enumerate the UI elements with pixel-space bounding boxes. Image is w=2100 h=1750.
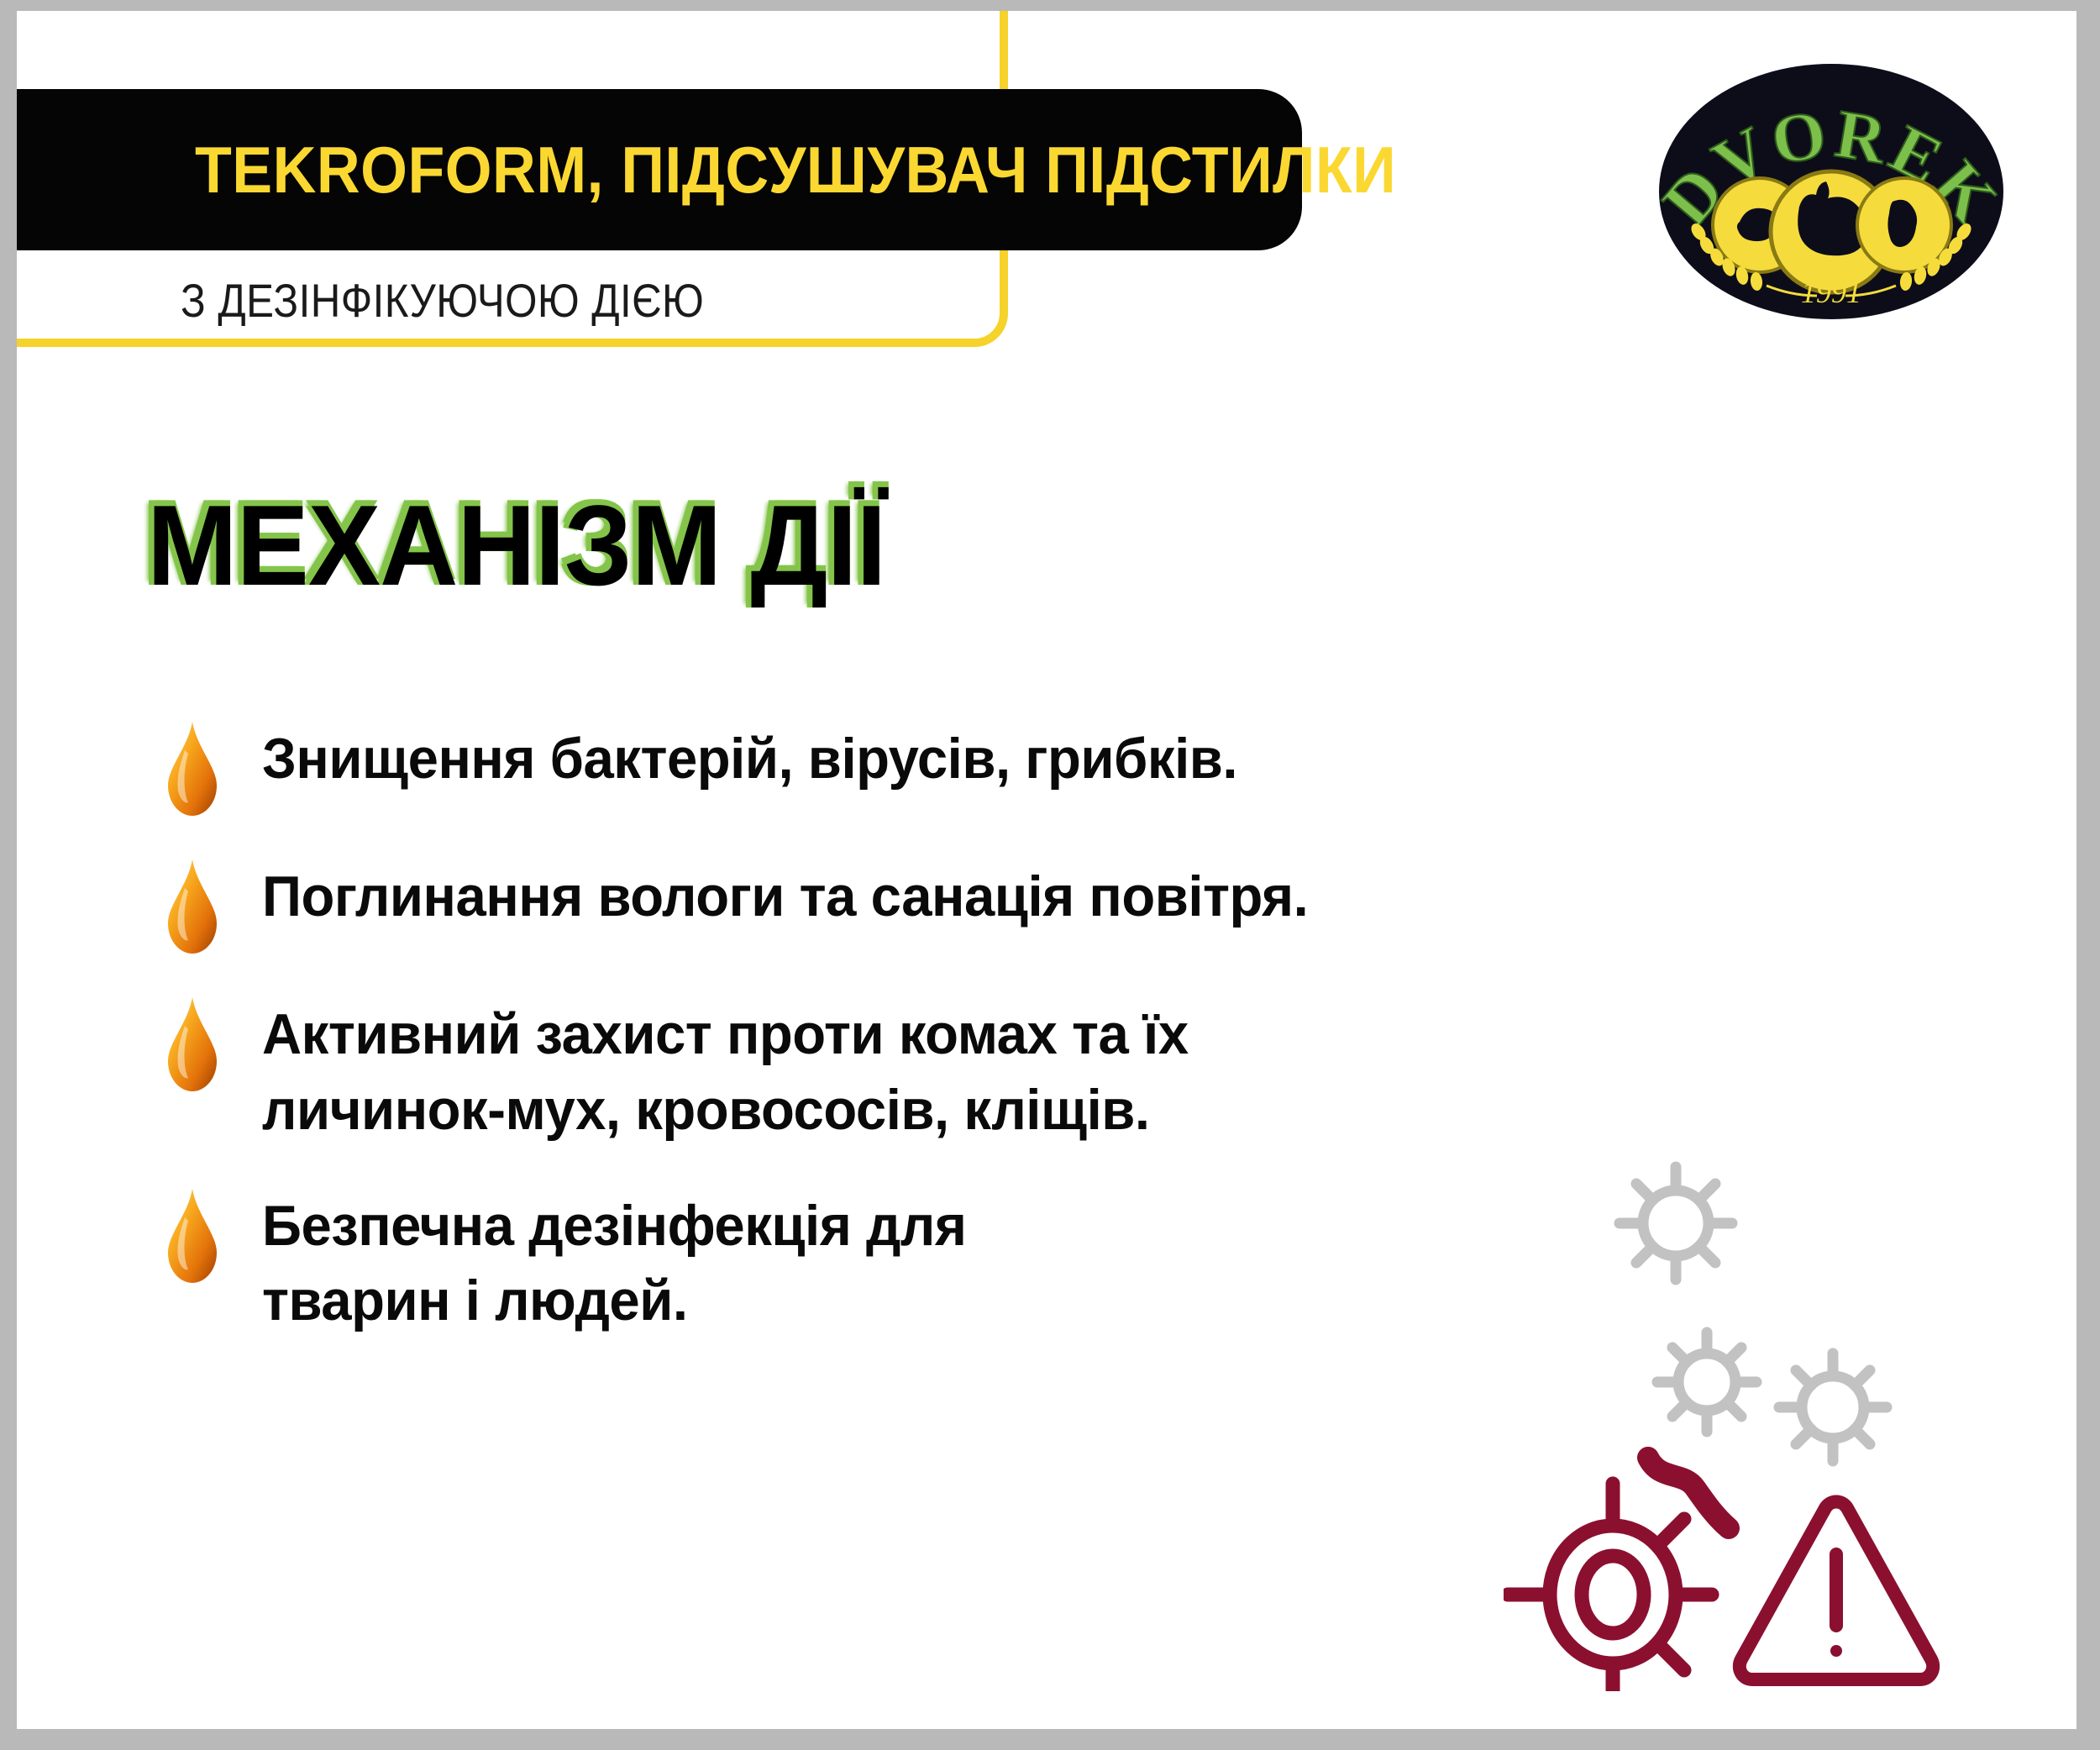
main-heading: МЕХАНІЗМ ДІЇ bbox=[147, 486, 885, 606]
list-item: Знищення бактерій, вірусів, грибків. bbox=[160, 715, 1621, 819]
slide-frame: TEKROFORM, ПІДСУШУВАЧ ПІДСТИЛКИ З ДЕЗІНФ… bbox=[0, 0, 2100, 1750]
list-item-label: Знищення бактерій, вірусів, грибків. bbox=[262, 715, 1237, 797]
logo-svg: DVOREK bbox=[1655, 57, 2008, 334]
bacteria-icon-red bbox=[1648, 1458, 1729, 1528]
oil-drop-icon bbox=[160, 718, 225, 819]
title-bar: TEKROFORM, ПІДСУШУВАЧ ПІДСТИЛКИ bbox=[17, 89, 1302, 250]
list-item: Активний захист проти комах та їх личино… bbox=[160, 991, 1621, 1148]
warning-triangle-icon bbox=[1740, 1502, 1933, 1680]
list-item-label: Активний захист проти комах та їх личино… bbox=[262, 991, 1189, 1148]
subtitle: З ДЕЗІНФІКУЮЧОЮ ДІЄЮ bbox=[181, 273, 704, 328]
virus-icon-gray-2 bbox=[1657, 1332, 1756, 1432]
list-item-label: Безпечна дезінфекція для тварин і людей. bbox=[262, 1182, 967, 1340]
slide-canvas: TEKROFORM, ПІДСУШУВАЧ ПІДСТИЛКИ З ДЕЗІНФ… bbox=[17, 11, 2076, 1729]
list-item: Поглинання вологи та санація повітря. bbox=[160, 853, 1621, 957]
oil-drop-icon bbox=[160, 1185, 225, 1286]
list-item: Безпечна дезінфекція для тварин і людей. bbox=[160, 1182, 1621, 1340]
virus-icon-red bbox=[1508, 1484, 1712, 1691]
virus-icon-gray-1 bbox=[1620, 1167, 1732, 1280]
list-item-label: Поглинання вологи та санація повітря. bbox=[262, 853, 1308, 935]
benefits-list: Знищення бактерій, вірусів, грибків. Пог… bbox=[160, 715, 1621, 1373]
oil-drop-icon bbox=[160, 856, 225, 957]
oil-drop-icon bbox=[160, 994, 225, 1095]
page-title: TEKROFORM, ПІДСУШУВАЧ ПІДСТИЛКИ bbox=[195, 137, 1396, 202]
dvorek-logo: DVOREK bbox=[1655, 57, 2008, 334]
virus-icon-gray-3 bbox=[1779, 1353, 1887, 1461]
logo-year-text: 1991 bbox=[1801, 276, 1861, 309]
